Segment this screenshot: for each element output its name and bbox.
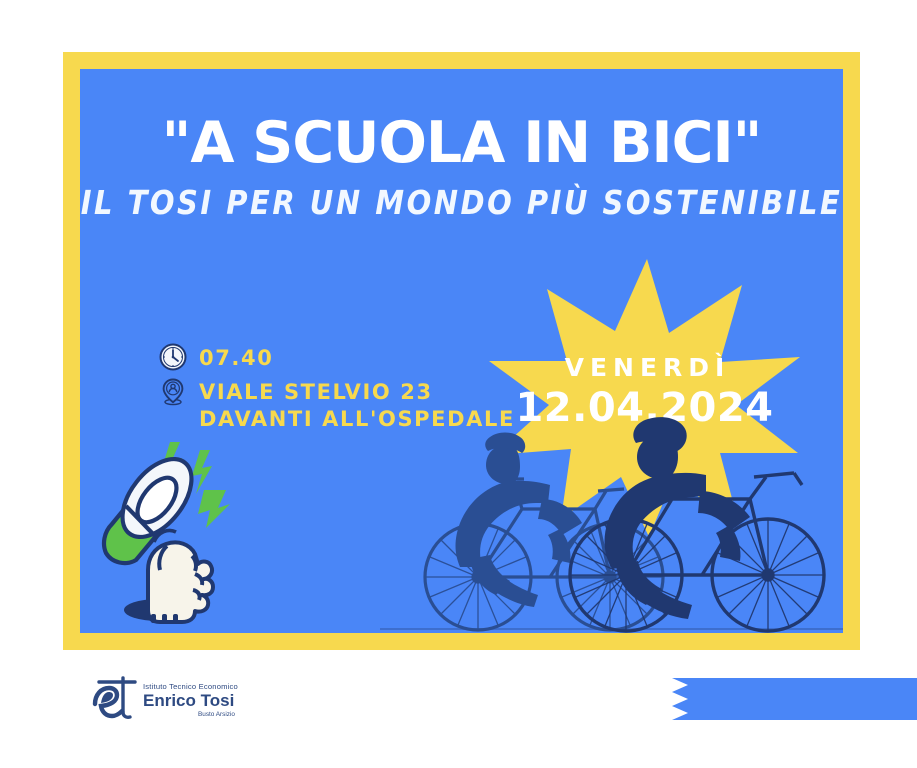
event-time: 07.40	[199, 346, 273, 370]
detail-row-time: 07.40	[158, 342, 515, 372]
page-title: "A SCUOLA IN BICI"	[80, 115, 843, 172]
poster-frame: "A SCUOLA IN BICI" IL TOSI PER UN MONDO …	[63, 52, 860, 650]
footer-ribbon	[672, 678, 917, 720]
location-pin-icon	[158, 376, 188, 406]
event-weekday: VENERDÌ	[487, 355, 802, 380]
school-logo: Istituto Tecnico Economico Enrico Tosi B…	[83, 672, 243, 724]
poster-canvas: "A SCUOLA IN BICI" IL TOSI PER UN MONDO …	[80, 69, 843, 633]
logo-name: Enrico Tosi	[143, 691, 234, 710]
megaphone-illustration	[96, 424, 271, 629]
et-monogram-icon	[95, 678, 135, 717]
event-address: VIALE STELVIO 23	[199, 380, 433, 404]
logo-eyebrow: Istituto Tecnico Economico	[143, 682, 238, 691]
detail-texts-time: 07.40	[199, 342, 273, 372]
cyclists-illustration	[410, 399, 843, 633]
clock-icon	[158, 342, 188, 372]
page-subtitle: IL TOSI PER UN MONDO PIÙ SOSTENIBILE	[80, 187, 843, 219]
headline-block: "A SCUOLA IN BICI" IL TOSI PER UN MONDO …	[80, 115, 843, 218]
logo-city: Busto Arsizio	[198, 711, 235, 718]
